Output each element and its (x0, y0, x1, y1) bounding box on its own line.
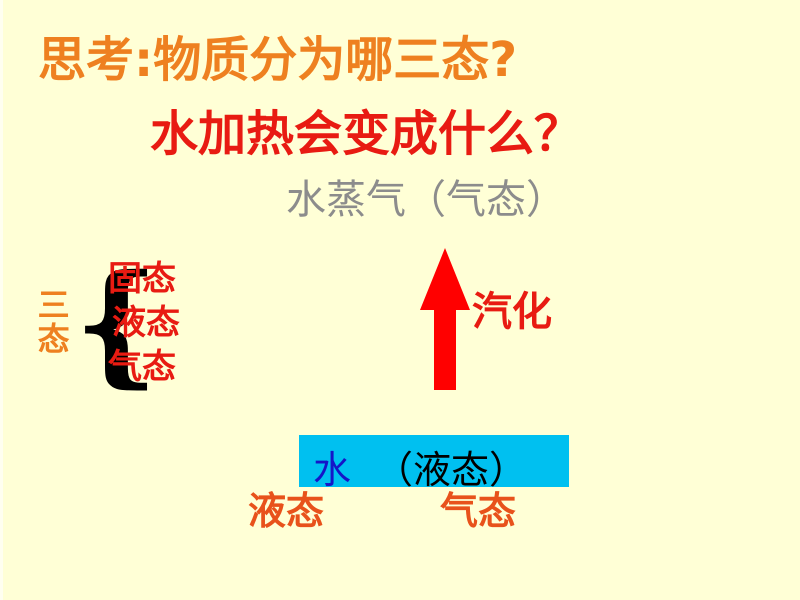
caption-gas-state: 气态 (440, 492, 516, 530)
up-arrow-icon (418, 248, 472, 390)
question-line-2: 水加热会变成什么？ (150, 110, 582, 158)
water-box-text: 水（液态） (313, 439, 527, 494)
caption-liquid-state: 液态 (248, 492, 324, 530)
water-liquid-box: 水（液态） (299, 435, 569, 487)
three-states-group-label: 三态 (34, 288, 68, 356)
water-box-state: （液态） (375, 448, 527, 492)
state-item-gas: 气态 (108, 350, 176, 384)
vaporization-label: 汽化 (472, 292, 552, 332)
state-item-solid: 固态 (108, 262, 176, 296)
question-line-1: 思考:物质分为哪三态? (38, 36, 517, 84)
water-box-name: 水 (313, 448, 351, 492)
slide-canvas: 思考:物质分为哪三态? 水加热会变成什么？ 水蒸气（气态） 三态 { 固态 液态… (0, 0, 800, 600)
vapor-state-label: 水蒸气（气态） (286, 180, 566, 220)
state-item-liquid: 液态 (112, 306, 180, 340)
